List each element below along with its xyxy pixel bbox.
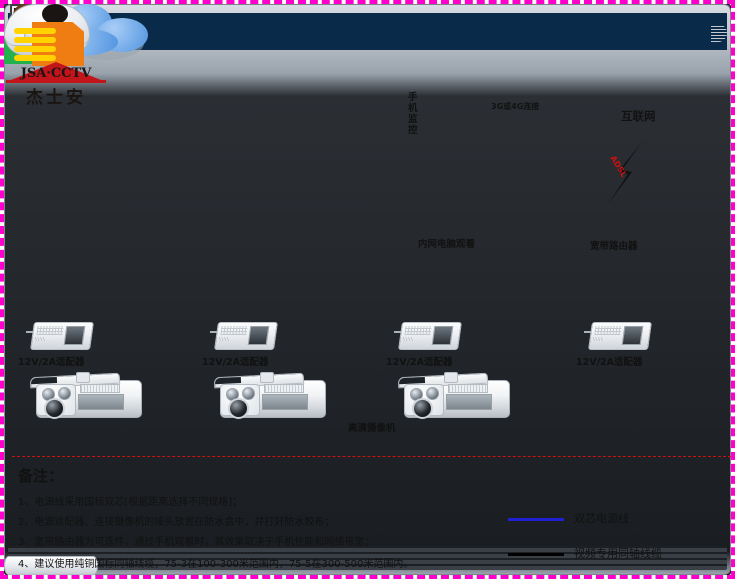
- note-item-1: 1、电源线采用国标双芯[根据距离选择不同规格]；: [18, 493, 242, 508]
- note-item-4: 4、建议使用纯铜国标同轴线缆，75-3在100-300米范围内，75-5在300…: [18, 555, 413, 570]
- notes-heading: 备注：: [18, 465, 63, 486]
- logo-cn-text: 杰士安: [4, 83, 108, 108]
- power-adapter-3: \\\\: [400, 322, 458, 352]
- adapter-label-2: 12V/2A适配器: [202, 354, 269, 368]
- smartphone: [4, 204, 44, 284]
- legend-label-power: 双芯电源线: [574, 510, 629, 526]
- adapter-label-4: 12V/2A适配器: [576, 354, 643, 368]
- power-adapter-4: \\\\: [590, 322, 648, 352]
- power-adapter-2: \\\\: [216, 322, 274, 352]
- note-item-2: 2、电源适配器、连接摄像机的接头放置在防水盒中，并打好防水胶布；: [18, 513, 334, 528]
- legend-label-coax: 视频专用同轴线缆: [574, 545, 662, 561]
- power-adapter-1: \\\\: [32, 322, 90, 352]
- link-3g4g-label: 3G或4G连接: [491, 101, 539, 112]
- mobile-monitor-label: 手机监控: [408, 92, 418, 136]
- bullet-camera-2: [212, 370, 328, 426]
- adapter-label-1: 12V/2A适配器: [18, 354, 85, 368]
- diagram-page: 高清视频监控布线示意图 www.afcg168.com 市电220V输入: [0, 0, 735, 579]
- broadband-router-label: 宽带路由器: [590, 238, 638, 252]
- legend-swatch-coax: [508, 553, 564, 556]
- internet-label: 互联网: [621, 108, 656, 124]
- bullet-camera-3: [396, 370, 512, 426]
- notes-separator: [12, 456, 731, 457]
- legend-swatch-power: [508, 518, 564, 521]
- bullet-camera-1: [28, 370, 144, 426]
- note-item-3: 3、宽带路由器为可选件，通过手机观看时，其效果取决于手机性能和网络带宽；: [18, 533, 374, 548]
- logo-en-text: JSA·CCTV: [4, 66, 108, 81]
- lan-pc-view-label: 内网电脑观看: [418, 236, 475, 250]
- adapter-label-3: 12V/2A适配器: [386, 354, 453, 368]
- hd-camera-label: 高清摄像机: [348, 420, 396, 434]
